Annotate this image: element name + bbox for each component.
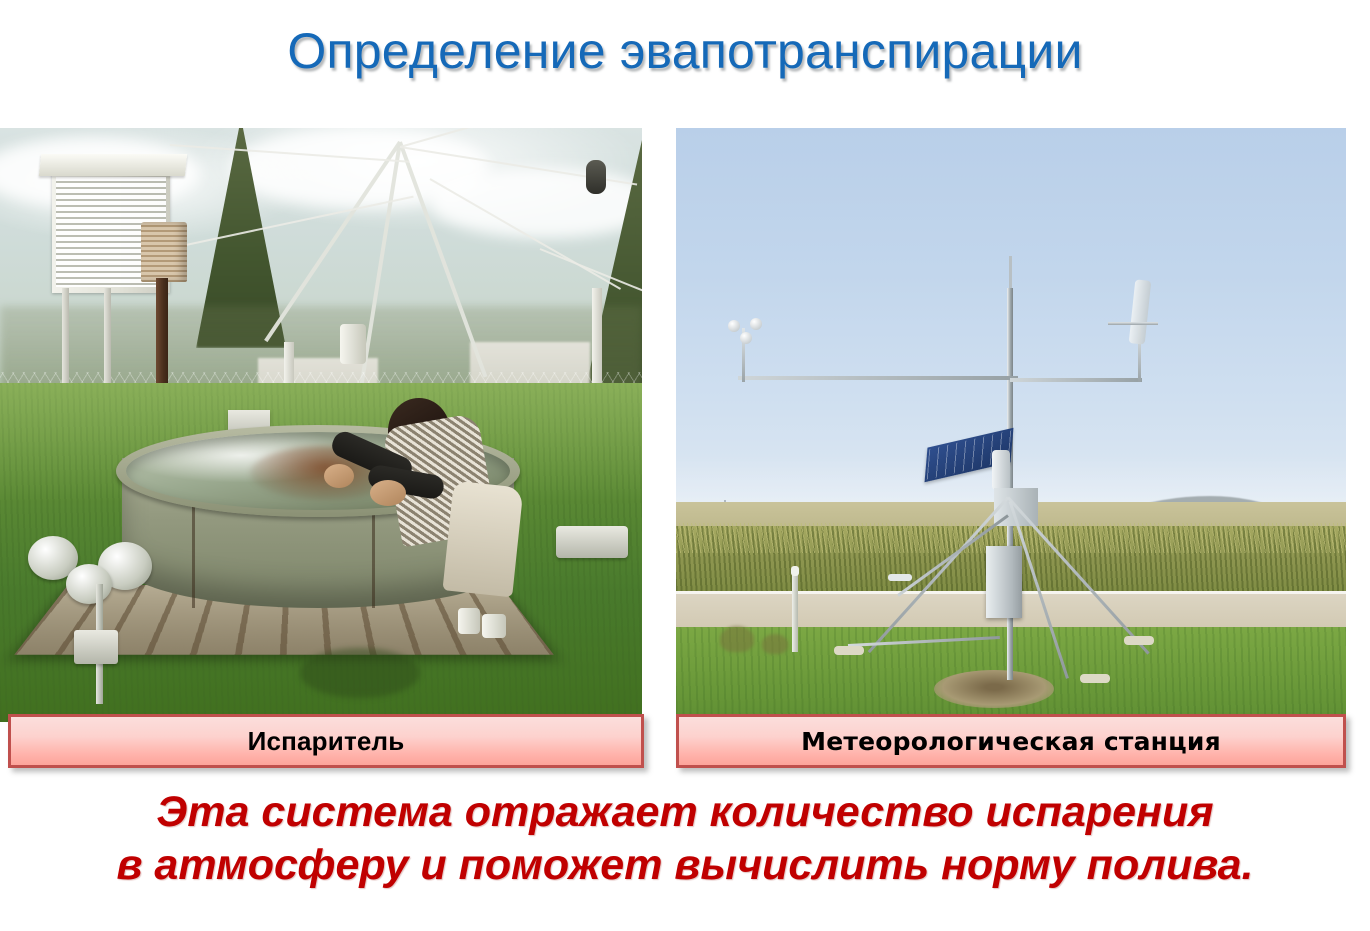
measuring-cup	[482, 614, 506, 638]
ground-shadow	[300, 648, 420, 698]
evaporation-pan-photo-art	[0, 128, 642, 722]
radiation-sensor	[888, 574, 912, 581]
weather-station-photo	[676, 128, 1346, 722]
evaporation-pan-photo	[0, 128, 642, 722]
summary-note-line-2: в атмосферу и поможет вычислить норму по…	[0, 839, 1370, 892]
anemometer-cup	[750, 318, 762, 330]
bush	[762, 634, 788, 654]
marker-post	[792, 572, 798, 652]
measuring-cup	[458, 608, 480, 634]
anemometer-cup	[66, 564, 112, 604]
anemometer-housing	[74, 630, 118, 664]
tripod-foot	[1124, 636, 1154, 645]
data-logger-enclosure	[986, 546, 1022, 618]
person-hand	[324, 464, 354, 488]
weather-station-photo-art	[676, 128, 1346, 722]
person-hand	[370, 480, 406, 506]
caption-label-weather-station: Метеорологическая станция	[801, 727, 1221, 756]
tripod-foot	[834, 646, 864, 655]
vane-boom	[1108, 322, 1158, 325]
bare-soil-patch	[934, 670, 1054, 708]
anemometer-cup	[740, 332, 752, 344]
anemometer-cup	[728, 320, 740, 332]
bush	[720, 626, 754, 652]
caption-label-evaporation-pan: Испаритель	[248, 726, 405, 757]
lamp-head	[586, 160, 606, 194]
stevenson-screen-roof	[39, 154, 187, 176]
tripod-foot	[1080, 674, 1110, 683]
cross-arm	[738, 376, 1018, 380]
sensor-cylinder	[992, 450, 1010, 490]
page-title: Определение эвапотранспирации	[0, 22, 1370, 80]
rain-gauge	[141, 222, 187, 282]
caption-box-weather-station: Метеорологическая станция	[676, 714, 1346, 768]
summary-note-line-1: Эта система отражает количество испарени…	[0, 786, 1370, 839]
cross-arm	[1010, 378, 1142, 382]
sensor-box	[556, 526, 628, 558]
person-leg	[442, 481, 523, 598]
instrument-cylinder	[340, 324, 366, 364]
summary-note: Эта система отражает количество испарени…	[0, 786, 1370, 892]
marker-post-cap	[791, 566, 799, 576]
caption-box-evaporation-pan: Испаритель	[8, 714, 644, 768]
